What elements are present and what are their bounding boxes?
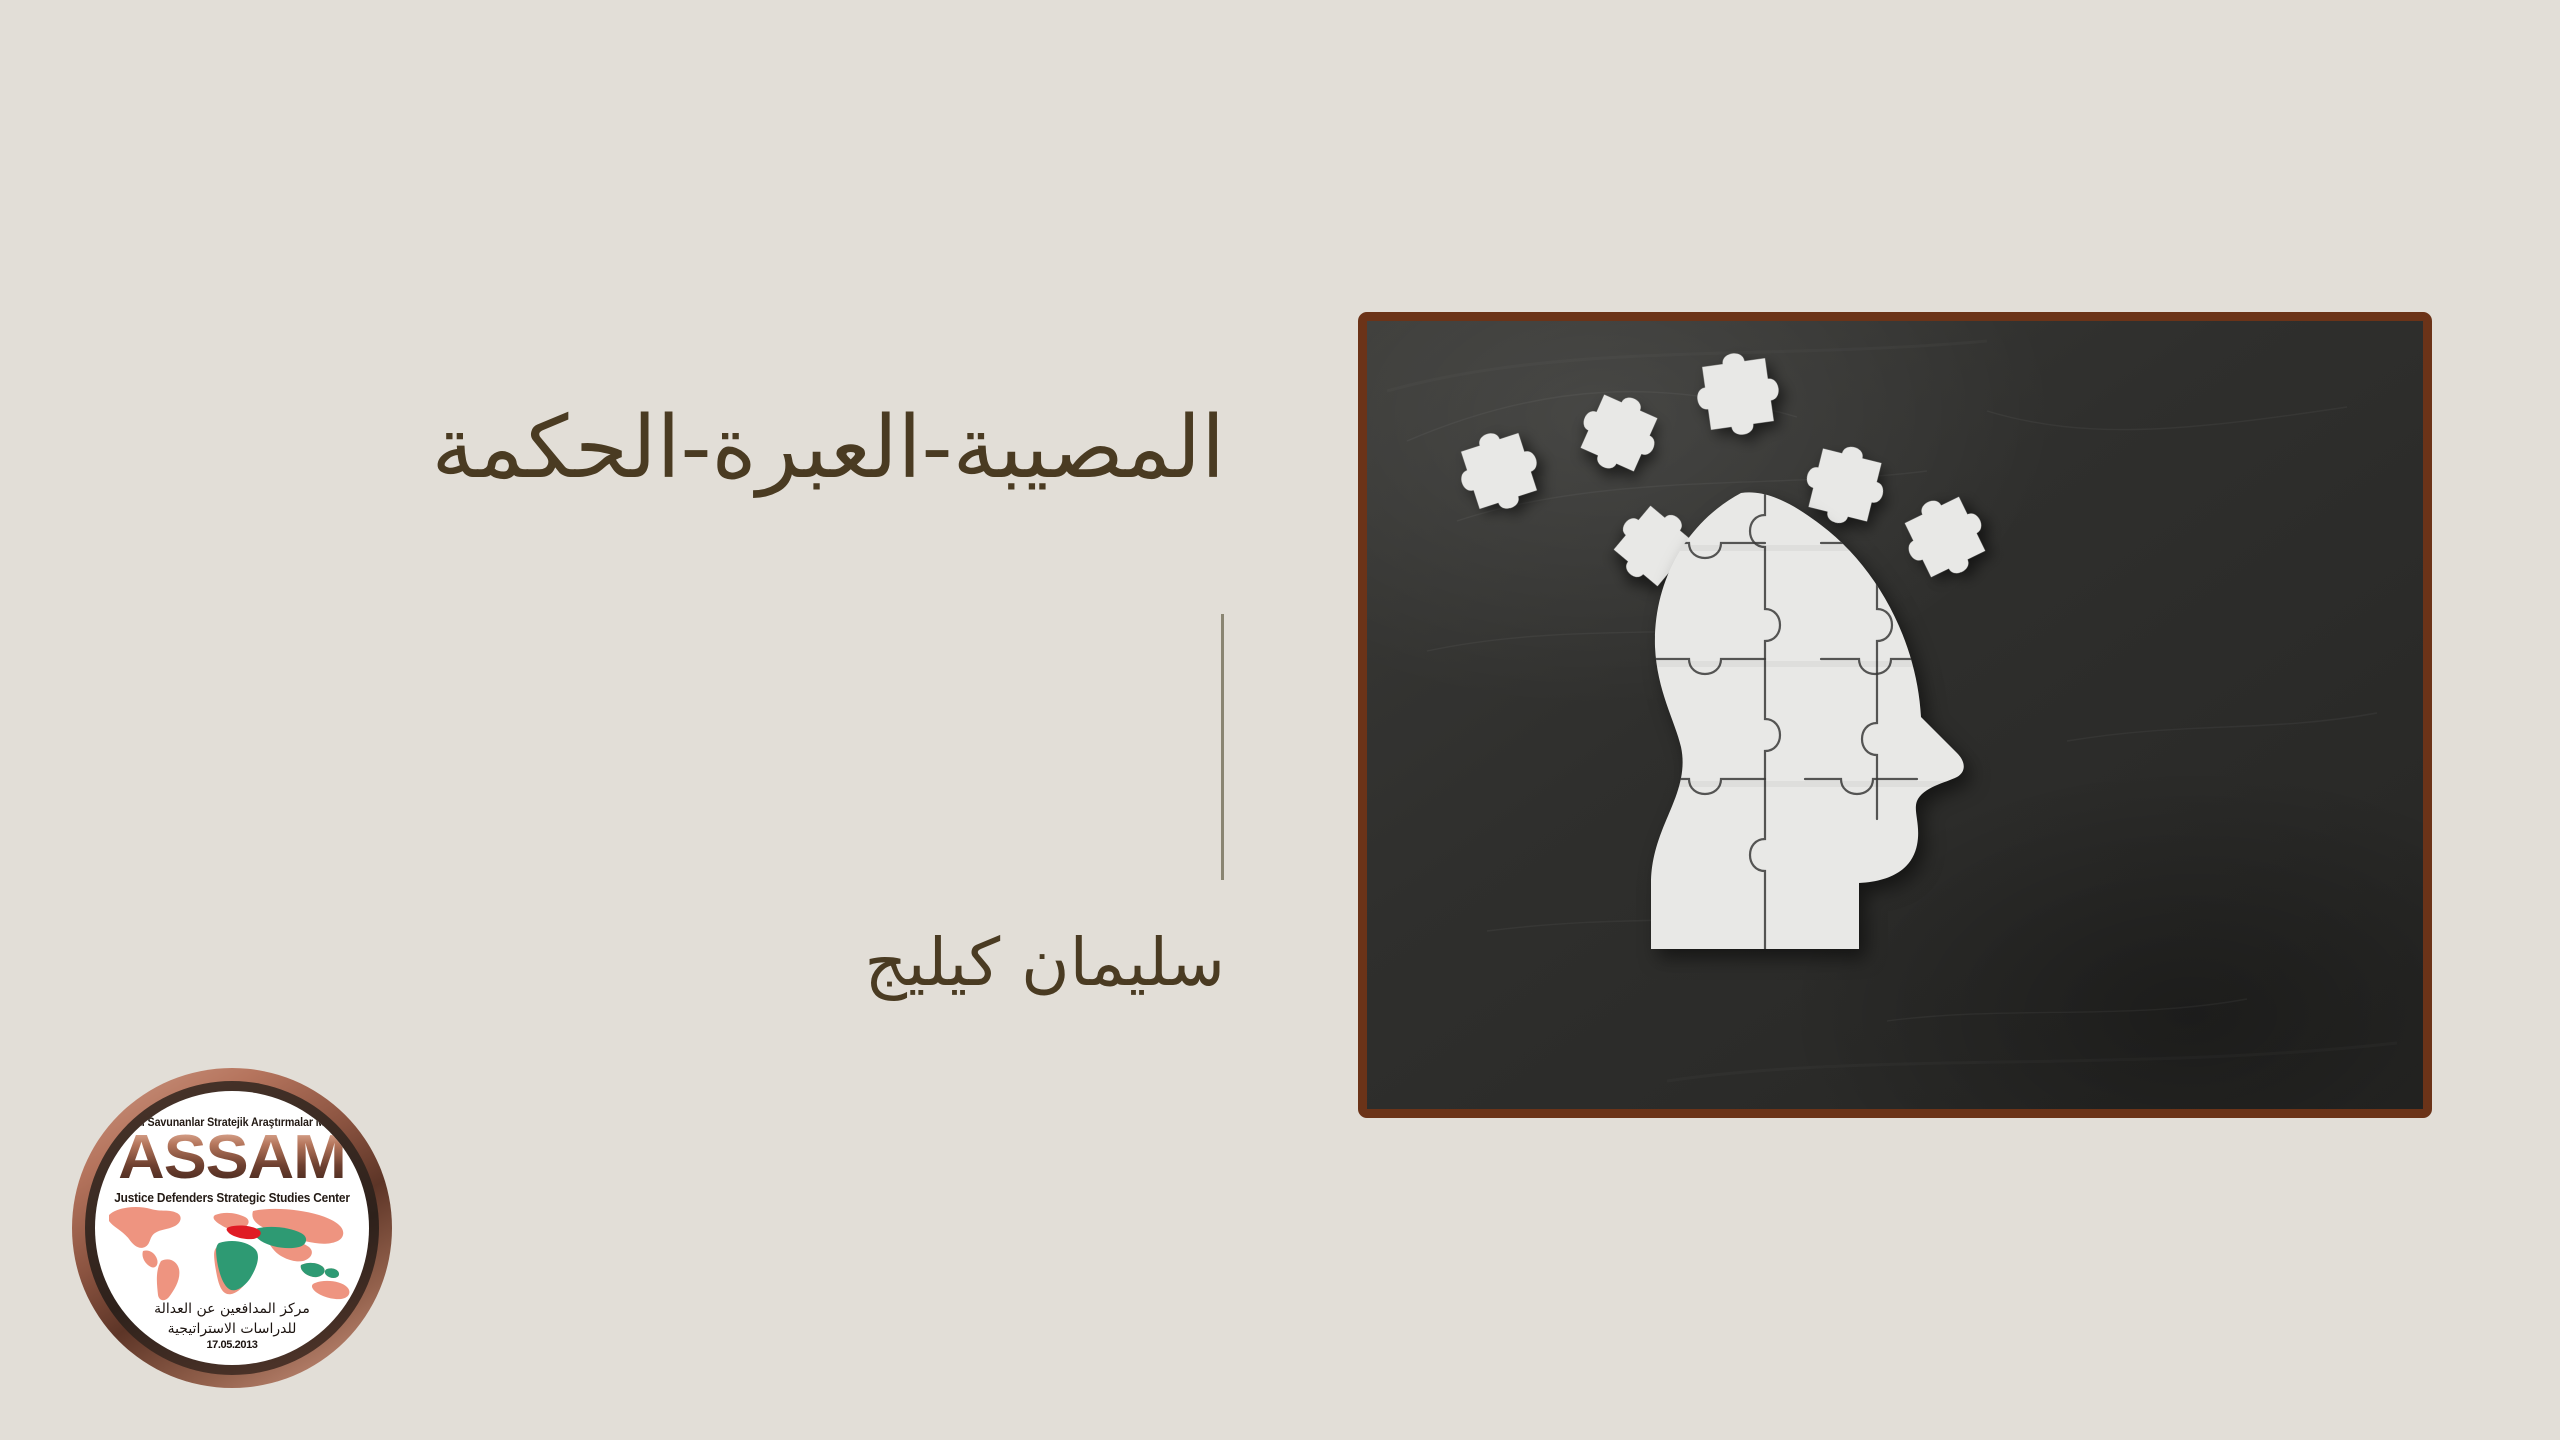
logo-arabic-text: مركز المدافعين عن العدالة للدراسات الاست…	[95, 1299, 369, 1340]
author-block: سليمان كيليج	[380, 925, 1225, 1001]
puzzle-piece-scattered	[1669, 325, 1807, 463]
logo-arabic-line-2: للدراسات الاستراتيجية	[95, 1319, 369, 1339]
logo-arabic-line-1: مركز المدافعين عن العدالة	[95, 1299, 369, 1319]
puzzle-head-image-panel	[1358, 312, 2432, 1118]
author-name: سليمان كيليج	[380, 925, 1225, 1001]
logo-face: Adaleti Savunanlar Stratejik Araştırmala…	[95, 1091, 369, 1365]
world-map-icon	[103, 1199, 361, 1303]
logo-founding-date: 17.05.2013	[95, 1339, 369, 1351]
logo-wordmark: ASSAM	[95, 1127, 369, 1189]
vertical-divider-rule	[1221, 614, 1224, 880]
page-title: المصيبة-العبرة-الحكمة	[380, 400, 1225, 496]
puzzle-head-silhouette	[1645, 479, 1975, 949]
assam-logo: Adaleti Savunanlar Stratejik Araştırmala…	[72, 1068, 392, 1388]
presentation-slide: المصيبة-العبرة-الحكمة سليمان كيليج	[0, 0, 2560, 1440]
title-block: المصيبة-العبرة-الحكمة	[380, 400, 1225, 496]
